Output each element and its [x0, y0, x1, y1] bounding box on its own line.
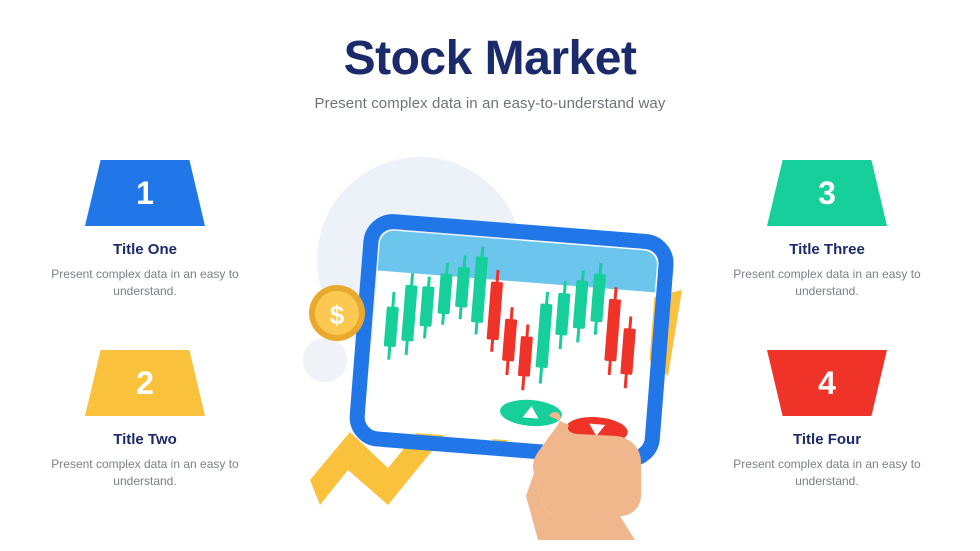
page-title: Stock Market: [0, 34, 980, 84]
slide-header: Stock Market Present complex data in an …: [0, 34, 980, 112]
info-item-4[interactable]: 4 Title Four Present complex data in an …: [712, 350, 942, 490]
item-2-number-badge: 2: [85, 350, 205, 416]
item-4-number: 4: [818, 367, 836, 399]
item-3-title: Title Three: [712, 241, 942, 258]
item-2-title: Title Two: [30, 431, 260, 448]
item-3-number-badge: 3: [767, 160, 887, 226]
item-1-number-badge: 1: [85, 160, 205, 226]
coin-dollar-symbol: $: [330, 300, 345, 330]
item-4-description: Present complex data in an easy to under…: [712, 456, 942, 490]
info-item-2[interactable]: 2 Title Two Present complex data in an e…: [30, 350, 260, 490]
item-3-number: 3: [818, 177, 836, 209]
tablet-device: [356, 220, 668, 461]
info-item-3[interactable]: 3 Title Three Present complex data in an…: [712, 160, 942, 300]
item-1-number: 1: [136, 177, 154, 209]
slide-canvas: Stock Market Present complex data in an …: [0, 0, 980, 551]
item-1-title: Title One: [30, 241, 260, 258]
page-subtitle: Present complex data in an easy-to-under…: [0, 95, 980, 112]
item-2-number: 2: [136, 367, 154, 399]
item-4-number-badge: 4: [767, 350, 887, 416]
info-item-1[interactable]: 1 Title One Present complex data in an e…: [30, 160, 260, 300]
backdrop-small-circle: [303, 338, 347, 382]
item-1-description: Present complex data in an easy to under…: [30, 266, 260, 300]
item-3-description: Present complex data in an easy to under…: [712, 266, 942, 300]
item-2-description: Present complex data in an easy to under…: [30, 456, 260, 490]
dollar-coin-icon: $: [309, 285, 365, 341]
item-4-title: Title Four: [712, 431, 942, 448]
stock-market-illustration: $: [290, 130, 700, 540]
